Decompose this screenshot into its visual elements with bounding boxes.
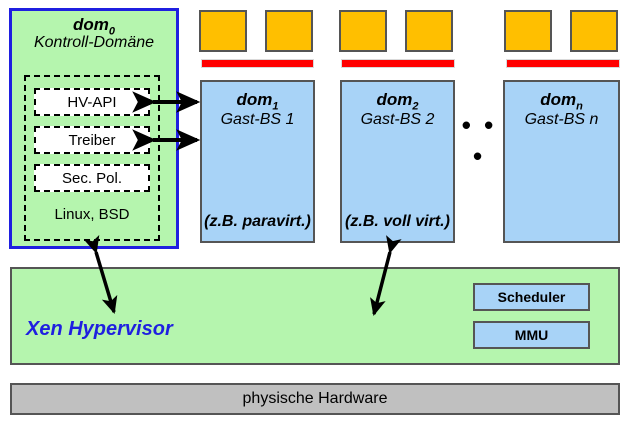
guest1-app-box-2[interactable] xyxy=(265,10,313,52)
guestn-separator-bar xyxy=(506,59,620,68)
xen-architecture-diagram: dom0 Kontroll-Domäne HV-API Treiber Sec.… xyxy=(0,0,630,423)
guest2-app-box-1[interactable] xyxy=(339,10,387,52)
hypervisor-label: Xen Hypervisor xyxy=(26,318,173,341)
guestn-app-box-2[interactable] xyxy=(570,10,618,52)
hypervisor-scheduler-box[interactable]: Scheduler xyxy=(473,283,590,311)
guest2-app-box-2[interactable] xyxy=(405,10,453,52)
guest2-separator-bar xyxy=(341,59,455,68)
guest-domain-2-name: dom xyxy=(376,90,412,109)
guest-domain-n-box[interactable]: domn Gast-BS n xyxy=(503,80,620,243)
guest-domain-n-name: dom xyxy=(540,90,576,109)
guest-domain-1-subtitle: Gast-BS 1 xyxy=(202,111,313,129)
control-domain-sec-pol-box[interactable]: Sec. Pol. xyxy=(34,164,150,192)
control-domain-subtitle: Kontroll-Domäne xyxy=(9,34,179,52)
guest-domain-2-note: (z.B. voll virt.) xyxy=(344,212,451,231)
physical-hardware-box: physische Hardware xyxy=(10,383,620,415)
guest-domain-1-name: dom xyxy=(236,90,272,109)
guest-domain-2-subtitle: Gast-BS 2 xyxy=(342,111,453,129)
guest1-app-box-1[interactable] xyxy=(199,10,247,52)
guest-domains-ellipsis: • • • xyxy=(458,110,500,172)
guestn-app-box-1[interactable] xyxy=(504,10,552,52)
control-domain-hv-api-box[interactable]: HV-API xyxy=(34,88,150,116)
guest-domain-1-box[interactable]: dom1 Gast-BS 1 (z.B. paravirt.) xyxy=(200,80,315,243)
hypervisor-box xyxy=(10,267,620,365)
control-domain-name: dom xyxy=(73,15,109,34)
guest-domain-n-subtitle: Gast-BS n xyxy=(505,111,618,129)
guest1-separator-bar xyxy=(201,59,314,68)
guest-domain-2-box[interactable]: dom2 Gast-BS 2 (z.B. voll virt.) xyxy=(340,80,455,243)
hypervisor-mmu-box[interactable]: MMU xyxy=(473,321,590,349)
control-domain-treiber-box[interactable]: Treiber xyxy=(34,126,150,154)
guest-domain-1-note: (z.B. paravirt.) xyxy=(204,212,311,231)
control-domain-os-label: Linux, BSD xyxy=(24,206,160,223)
